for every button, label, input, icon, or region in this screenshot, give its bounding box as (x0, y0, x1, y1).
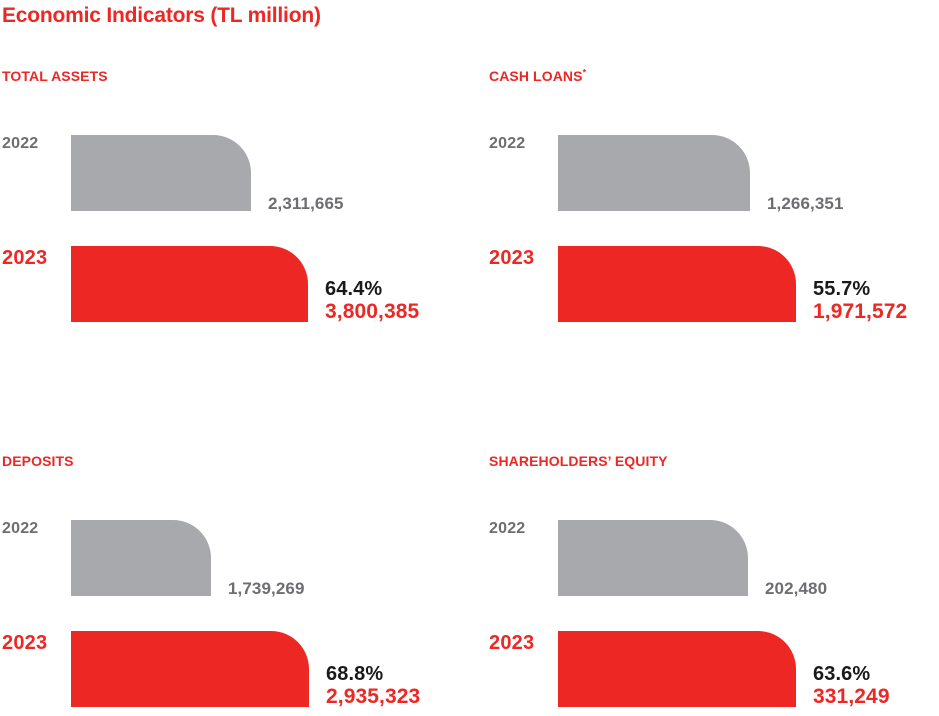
year-label-2023: 2023 (489, 248, 534, 268)
value-label-2022: 2,311,665 (268, 195, 344, 212)
value-block-2023: 64.4% 3,800,385 (325, 278, 419, 324)
footnote-marker: * (583, 67, 587, 77)
bar-group-2023: 2023 55.7% 1,971,572 (487, 246, 939, 322)
value-label-2022: 202,480 (765, 580, 827, 597)
bar-group-2023: 2023 64.4% 3,800,385 (0, 246, 452, 322)
bar-2022 (558, 135, 750, 211)
page-title: Economic Indicators (TL million) (2, 4, 321, 28)
bar-group-2022: 2022 202,480 (487, 520, 939, 596)
change-percent-2023: 63.6% (813, 663, 890, 685)
year-label-2022: 2022 (2, 136, 38, 152)
bar-2023 (71, 246, 308, 322)
bar-2023 (558, 631, 796, 707)
bar-2022 (558, 520, 748, 596)
panel-label: SHAREHOLDERS’ EQUITY (489, 453, 668, 469)
value-label-2023: 3,800,385 (325, 300, 419, 324)
panel-label-text: DEPOSITS (2, 453, 74, 469)
value-label-2023: 2,935,323 (326, 685, 420, 709)
change-percent-2023: 55.7% (813, 278, 907, 300)
bar-group-2023: 2023 68.8% 2,935,323 (0, 631, 452, 707)
value-label-2022: 1,266,351 (767, 195, 844, 212)
bar-2022 (71, 135, 251, 211)
panel-label: TOTAL ASSETS (2, 68, 108, 84)
value-label-2022: 1,739,269 (228, 580, 305, 597)
value-block-2023: 55.7% 1,971,572 (813, 278, 907, 324)
year-label-2023: 2023 (2, 633, 47, 653)
year-label-2022: 2022 (489, 521, 525, 537)
change-percent-2023: 68.8% (326, 663, 420, 685)
bar-group-2022: 2022 1,739,269 (0, 520, 452, 596)
panel-label-text: SHAREHOLDERS’ EQUITY (489, 453, 668, 469)
panel-label-text: CASH LOANS (489, 68, 583, 84)
value-label-2023: 331,249 (813, 685, 890, 709)
change-percent-2023: 64.4% (325, 278, 419, 300)
value-block-2023: 68.8% 2,935,323 (326, 663, 420, 709)
year-label-2023: 2023 (489, 633, 534, 653)
panel-label: CASH LOANS* (489, 68, 586, 84)
panel-label-text: TOTAL ASSETS (2, 68, 108, 84)
bar-2022 (71, 520, 211, 596)
value-label-2023: 1,971,572 (813, 300, 907, 324)
bar-2023 (558, 246, 796, 322)
panel-label: DEPOSITS (2, 453, 74, 469)
bar-2023 (71, 631, 309, 707)
year-label-2022: 2022 (489, 136, 525, 152)
value-block-2023: 63.6% 331,249 (813, 663, 890, 709)
bar-group-2022: 2022 2,311,665 (0, 135, 452, 211)
year-label-2022: 2022 (2, 521, 38, 537)
year-label-2023: 2023 (2, 248, 47, 268)
bar-group-2023: 2023 63.6% 331,249 (487, 631, 939, 707)
bar-group-2022: 2022 1,266,351 (487, 135, 939, 211)
